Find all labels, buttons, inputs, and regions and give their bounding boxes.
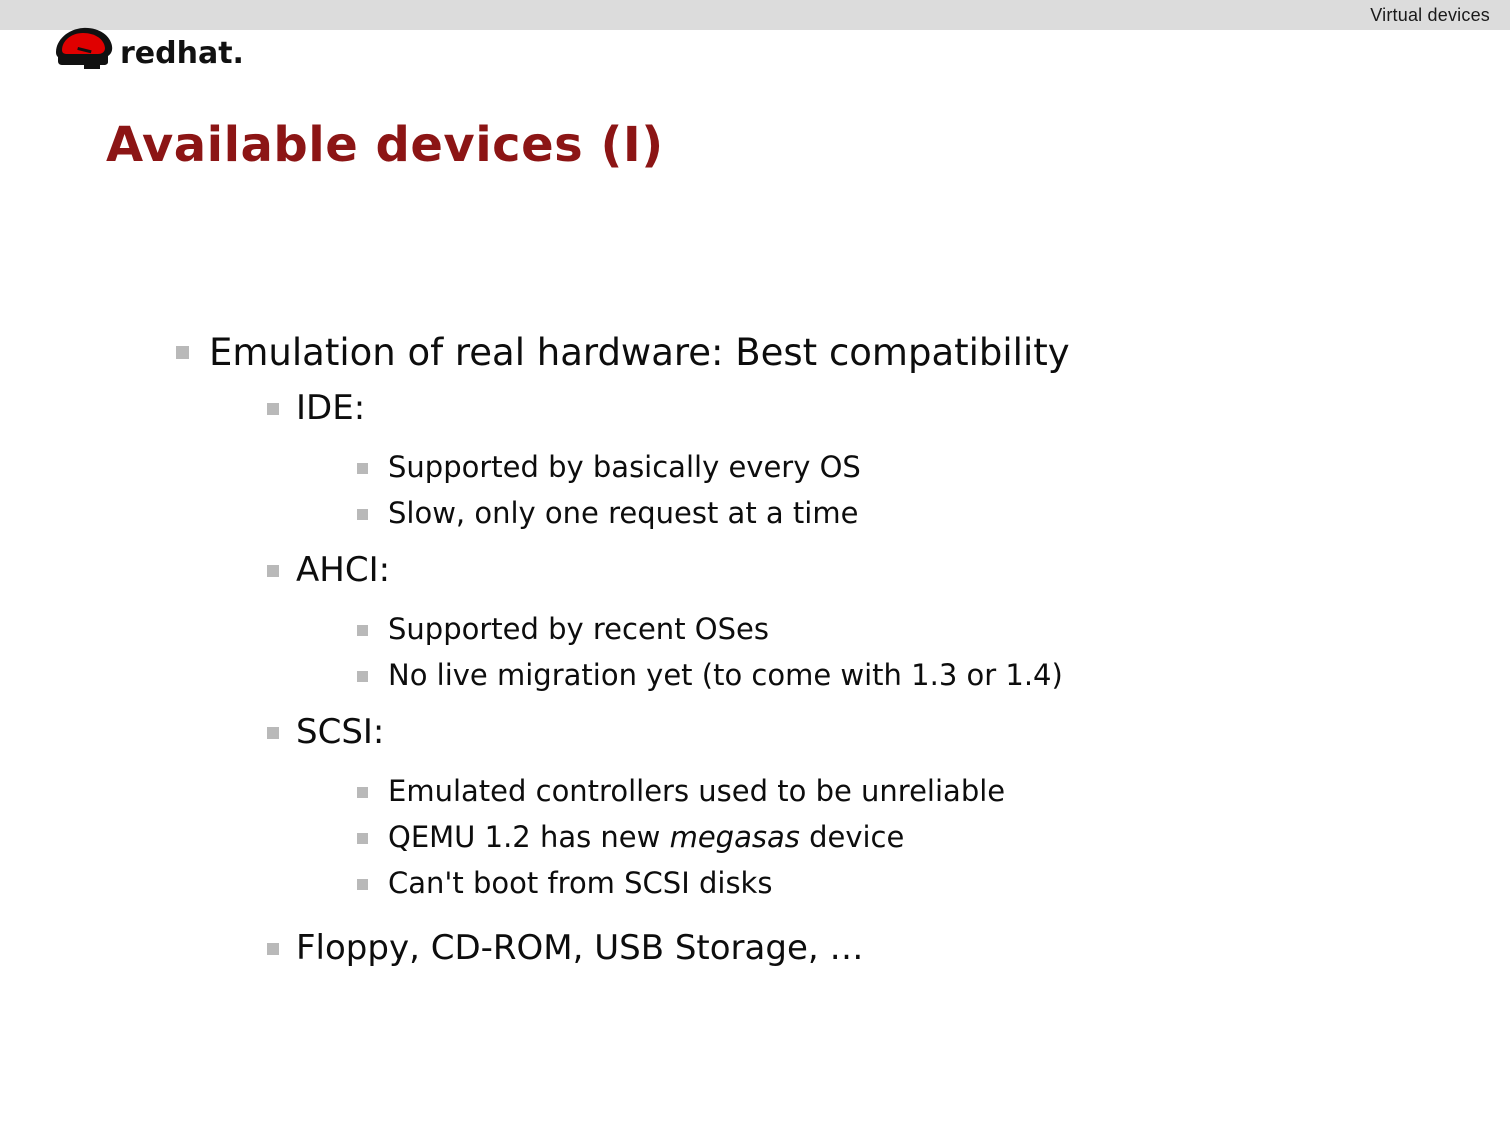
spacer [0, 764, 1510, 772]
outline-item-ide-supported-every-os: Supported by basically every OS [0, 448, 1510, 494]
bullet-square-icon [267, 403, 279, 415]
bullet-square-icon [357, 833, 368, 844]
outline-item-label: SCSI: [296, 710, 1510, 754]
slide-section-label: Virtual devices [1370, 3, 1490, 27]
outline-item-label: Floppy, CD-ROM, USB Storage, … [296, 926, 1510, 970]
page-title: Available devices (I) [106, 117, 664, 173]
spacer [0, 910, 1510, 926]
text-before: QEMU 1.2 has new [388, 820, 670, 854]
outline-item-scsi: SCSI: [0, 710, 1510, 764]
presentation-slide: Virtual devices redhat. Available device… [0, 0, 1510, 1133]
device-name-emphasis: megasas [670, 820, 800, 854]
outline-item-scsi-emulated-controllers-unreliable: Emulated controllers used to be unreliab… [0, 772, 1510, 818]
outline-item-ahci-no-live-migration: No live migration yet (to come with 1.3 … [0, 656, 1510, 702]
outline-item-scsi-qemu-megasas: QEMU 1.2 has new megasas device [0, 818, 1510, 864]
shadowman-icon [56, 28, 112, 69]
outline-item-ahci: AHCI: [0, 548, 1510, 602]
outline-item-emulation-of-real-hardware: Emulation of real hardware: Best compati… [0, 330, 1510, 386]
outline-item-label: Can't boot from SCSI disks [388, 864, 1510, 902]
bullet-square-icon [357, 463, 368, 474]
bullet-square-icon [357, 625, 368, 636]
outline-item-ide-slow-one-request: Slow, only one request at a time [0, 494, 1510, 540]
bullet-square-icon [357, 509, 368, 520]
outline-item-ahci-supported-recent-oses: Supported by recent OSes [0, 610, 1510, 656]
bullet-square-icon [357, 787, 368, 798]
outline-item-label: Slow, only one request at a time [388, 494, 1510, 532]
logo-wordmark: redhat. [120, 36, 244, 71]
outline-item-label: Emulation of real hardware: Best compati… [209, 330, 1510, 376]
outline-item-scsi-cant-boot: Can't boot from SCSI disks [0, 864, 1510, 910]
bullet-square-icon [357, 879, 368, 890]
outline-item-label: Emulated controllers used to be unreliab… [388, 772, 1510, 810]
outline-item-label: QEMU 1.2 has new megasas device [388, 818, 1510, 856]
outline-item-label: No live migration yet (to come with 1.3 … [388, 656, 1510, 694]
red-hat-logo: redhat. [48, 22, 248, 74]
spacer [0, 702, 1510, 710]
spacer [0, 602, 1510, 610]
outline-item-label: AHCI: [296, 548, 1510, 592]
bullet-square-icon [176, 346, 189, 359]
outline-item-label: Supported by recent OSes [388, 610, 1510, 648]
outline-item-ide: IDE: [0, 386, 1510, 440]
bullet-square-icon [267, 565, 279, 577]
bullet-square-icon [357, 671, 368, 682]
spacer [0, 540, 1510, 548]
text-after: device [800, 820, 904, 854]
slide-body-outline: Emulation of real hardware: Best compati… [0, 330, 1510, 980]
bullet-square-icon [267, 727, 279, 739]
outline-item-label: IDE: [296, 386, 1510, 430]
bullet-square-icon [267, 943, 279, 955]
spacer [0, 440, 1510, 448]
outline-item-label: Supported by basically every OS [388, 448, 1510, 486]
outline-item-floppy-cdrom-usb: Floppy, CD-ROM, USB Storage, … [0, 926, 1510, 980]
